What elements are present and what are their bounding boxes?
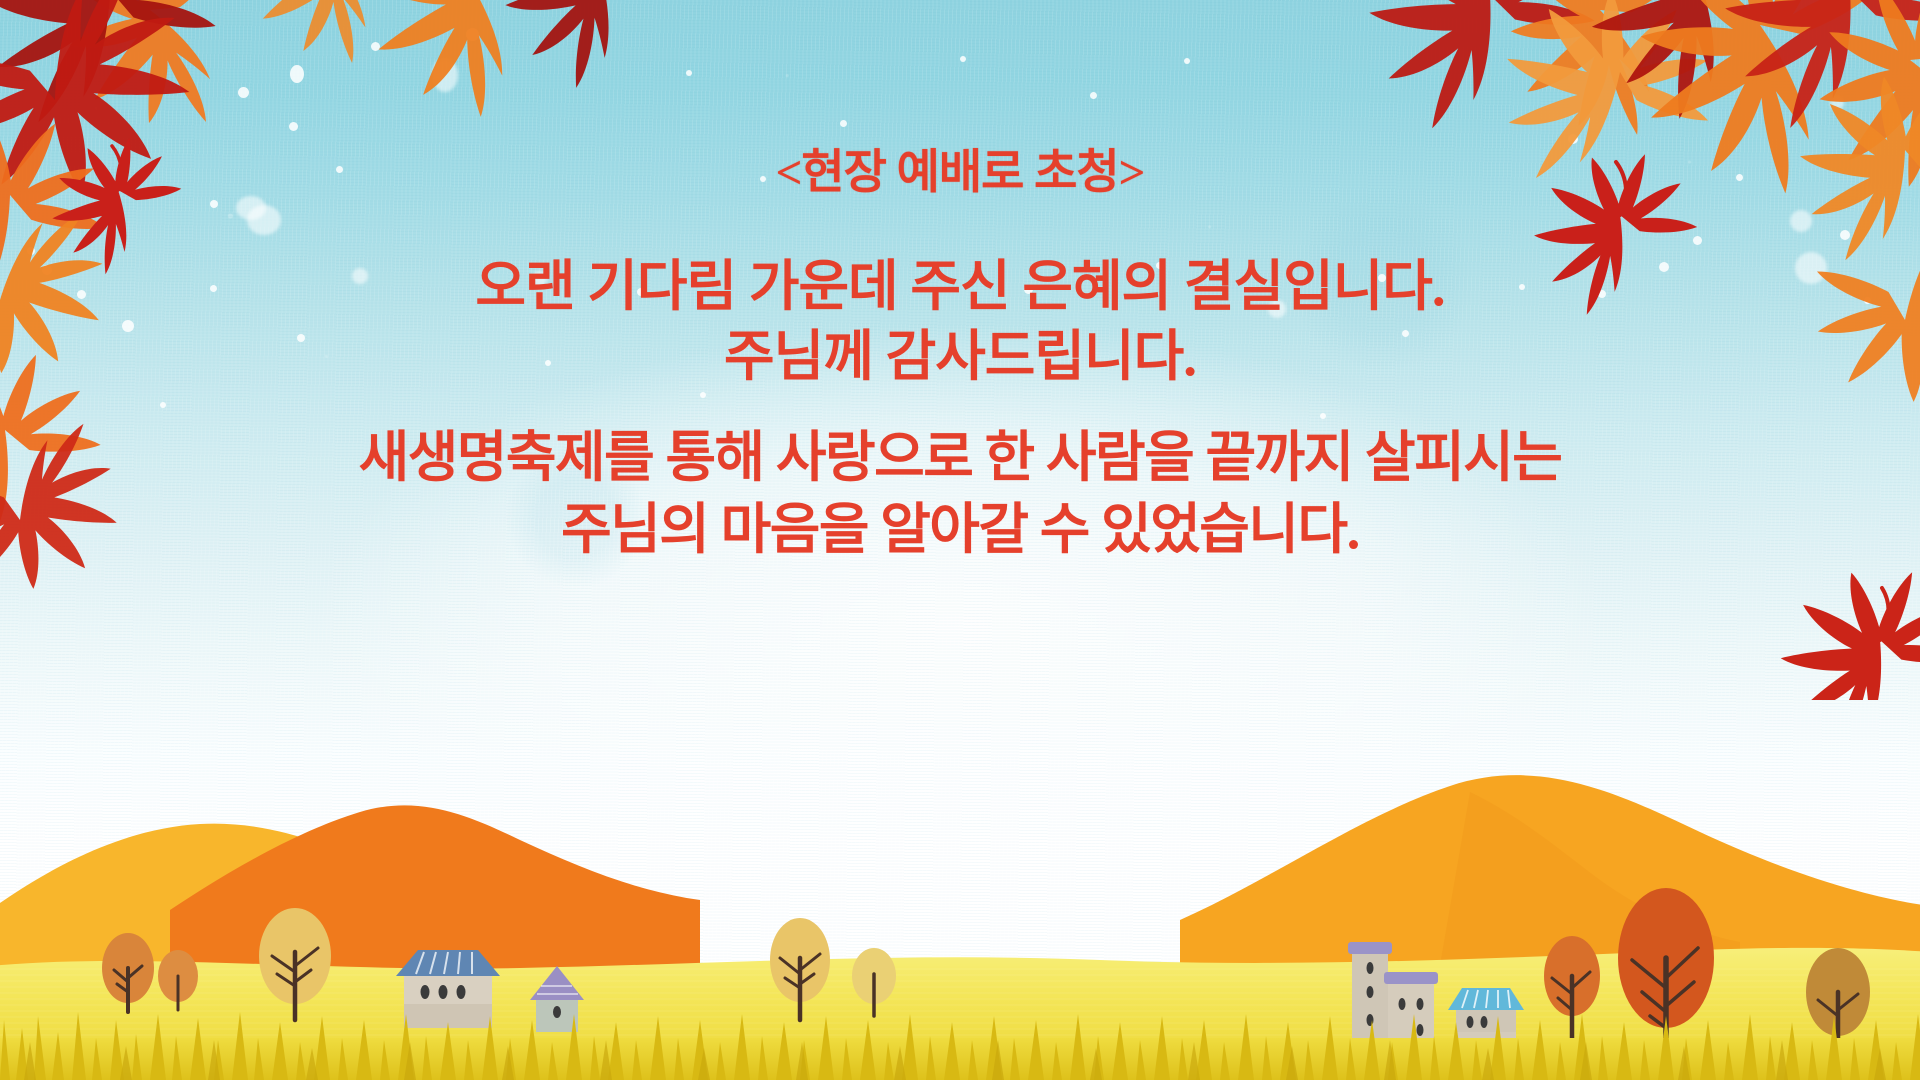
paragraph-festival-line-2: 주님의 마음을 알아갈 수 있었습니다. bbox=[0, 494, 1920, 566]
autumn-landscape-illustration bbox=[0, 720, 1920, 1080]
paragraph-gratitude: 오랜 기다림 가운데 주신 은혜의 결실입니다. 주님께 감사드립니다. bbox=[0, 252, 1920, 393]
paragraph-festival: 새생명축제를 통해 사랑으로 한 사람을 끝까지 살피시는 주님의 마음을 알아… bbox=[0, 422, 1920, 565]
house-blue-roof-left bbox=[396, 950, 500, 1028]
paragraph-gratitude-line-2: 주님께 감사드립니다. bbox=[0, 322, 1920, 392]
paragraph-gratitude-line-1: 오랜 기다림 가운데 주신 은혜의 결실입니다. bbox=[0, 252, 1920, 322]
paragraph-festival-line-1: 새생명축제를 통해 사랑으로 한 사람을 끝까지 살피시는 bbox=[0, 422, 1920, 494]
invitation-card: <현장 예배로 초청> 오랜 기다림 가운데 주신 은혜의 결실입니다. 주님께… bbox=[0, 0, 1920, 1080]
page-title: <현장 예배로 초청> bbox=[0, 148, 1920, 200]
grass-band bbox=[0, 1038, 1920, 1080]
